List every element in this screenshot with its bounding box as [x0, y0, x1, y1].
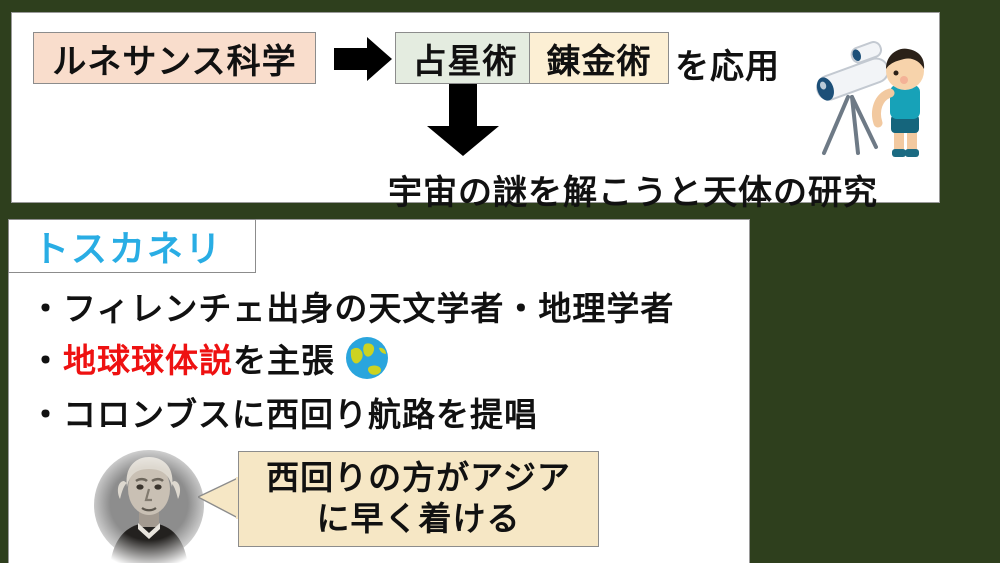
bullet-text: フィレンチェ出身の天文学者・地理学者	[63, 282, 674, 330]
bullet-text: コロンブスに西回り航路を提唱	[63, 388, 538, 436]
chip-alchemy-label: 錬金術	[547, 34, 652, 83]
bullet-marker: ・	[29, 282, 63, 330]
list-item: ・ コロンブスに西回り航路を提唱	[29, 388, 538, 436]
speech-bubble-line-2: に早く着ける	[317, 499, 521, 540]
boy-with-telescope-illustration	[808, 35, 930, 163]
chip-renaissance-science-label: ルネサンス科学	[52, 34, 296, 83]
arrow-down-icon	[427, 84, 499, 156]
columbus-portrait	[86, 447, 212, 563]
list-item: ・ フィレンチェ出身の天文学者・地理学者	[29, 282, 674, 330]
bullet-text: を主張	[233, 334, 335, 382]
chip-renaissance-science: ルネサンス科学	[33, 32, 316, 84]
renaissance-science-panel: ルネサンス科学 占星術 錬金術 を応用 宇宙の謎を解こうと天体の研究	[11, 12, 940, 203]
bullet-marker: ・	[29, 334, 63, 382]
toscanelli-panel: トスカネリ ・ フィレンチェ出身の天文学者・地理学者 ・ 地球球体説 を主張 ・…	[8, 219, 750, 563]
bullet-marker: ・	[29, 388, 63, 436]
earth-globe-icon	[345, 336, 389, 380]
chip-astrology: 占星術	[395, 32, 535, 84]
toscanelli-title-box: トスカネリ	[8, 219, 256, 273]
page-title: トスカネリ	[33, 220, 223, 272]
celestial-research-label: 宇宙の謎を解こうと天体の研究	[388, 165, 878, 214]
arrow-right-icon	[334, 37, 392, 81]
speech-bubble-line-1: 西回りの方がアジア	[266, 458, 571, 499]
bullet-highlight-text: 地球球体説	[63, 334, 233, 382]
chip-alchemy: 錬金術	[529, 32, 669, 84]
apply-text-label: を応用	[675, 39, 780, 88]
chip-astrology-label: 占星術	[413, 34, 518, 83]
speech-bubble: 西回りの方がアジア に早く着ける	[238, 451, 599, 547]
list-item: ・ 地球球体説 を主張	[29, 334, 389, 382]
speech-bubble-tail-icon	[198, 475, 240, 521]
